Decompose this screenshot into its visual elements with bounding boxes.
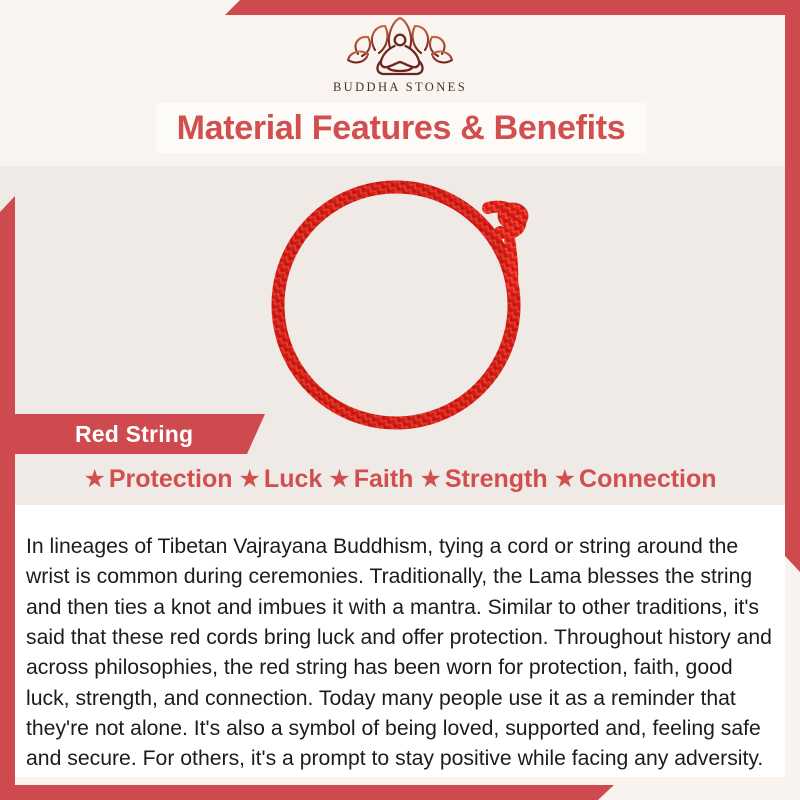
ribbon-label: Red String <box>75 421 193 448</box>
benefit-item-luck: ★ Luck <box>239 467 323 492</box>
star-icon: ★ <box>83 467 105 492</box>
title-banner: Material Features & Benefits <box>156 103 646 153</box>
benefit-item-connection: ★ Connection <box>554 467 717 492</box>
infographic-page: BUDDHA STONES Material Features & Benefi… <box>0 0 800 800</box>
star-icon: ★ <box>239 467 261 492</box>
benefit-label: Strength <box>445 467 548 492</box>
star-icon: ★ <box>328 467 350 492</box>
decorative-band-bottom <box>0 785 614 800</box>
benefit-label: Luck <box>264 467 322 492</box>
product-ribbon: Red String <box>15 414 265 454</box>
decorative-band-left <box>0 196 15 800</box>
star-icon: ★ <box>554 467 576 492</box>
page-title: Material Features & Benefits <box>177 109 626 148</box>
benefit-label: Protection <box>109 467 233 492</box>
benefit-label: Connection <box>579 467 717 492</box>
benefit-item-strength: ★ Strength <box>419 467 547 492</box>
description-paragraph: In lineages of Tibetan Vajrayana Buddhis… <box>26 532 774 774</box>
red-string-bracelet-image <box>236 168 566 438</box>
star-icon: ★ <box>419 467 441 492</box>
decorative-band-top <box>225 0 800 15</box>
brand-name: BUDDHA STONES <box>0 80 800 95</box>
brand-logo: BUDDHA STONES <box>0 16 800 95</box>
benefits-list: ★ Protection ★ Luck ★ Faith ★ Strength ★… <box>0 467 800 492</box>
benefit-item-faith: ★ Faith <box>328 467 413 492</box>
benefit-item-protection: ★ Protection <box>83 467 232 492</box>
benefit-label: Faith <box>354 467 414 492</box>
lotus-meditation-icon <box>344 16 456 78</box>
